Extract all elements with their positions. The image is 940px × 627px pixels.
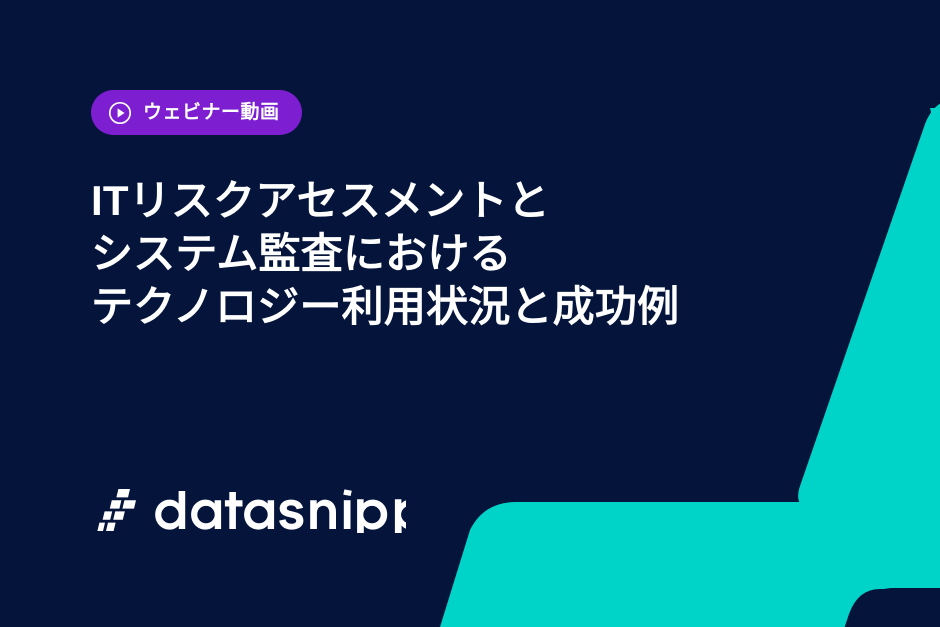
title-line-1: ITリスクアセスメントと xyxy=(91,174,791,227)
webinar-promo-card: ウェビナー動画 ITリスクアセスメントと システム監査における テクノロジー利用… xyxy=(0,0,940,627)
datasnipper-wordmark xyxy=(154,487,406,533)
webinar-badge[interactable]: ウェビナー動画 xyxy=(91,90,302,135)
page-title: ITリスクアセスメントと システム監査における テクノロジー利用状況と成功例 xyxy=(91,174,791,333)
title-line-2: システム監査における xyxy=(91,227,791,280)
title-line-3: テクノロジー利用状況と成功例 xyxy=(91,280,791,333)
navy-notch-bottom-right-shape xyxy=(820,588,940,627)
play-circle-icon xyxy=(108,101,132,125)
navy-notch-lower-shape xyxy=(800,589,940,627)
webinar-badge-label: ウェビナー動画 xyxy=(143,103,280,122)
large-teal-slash-right-shape xyxy=(798,90,940,510)
datasnipper-bars-icon xyxy=(96,488,138,532)
datasnipper-logo[interactable] xyxy=(96,487,406,533)
